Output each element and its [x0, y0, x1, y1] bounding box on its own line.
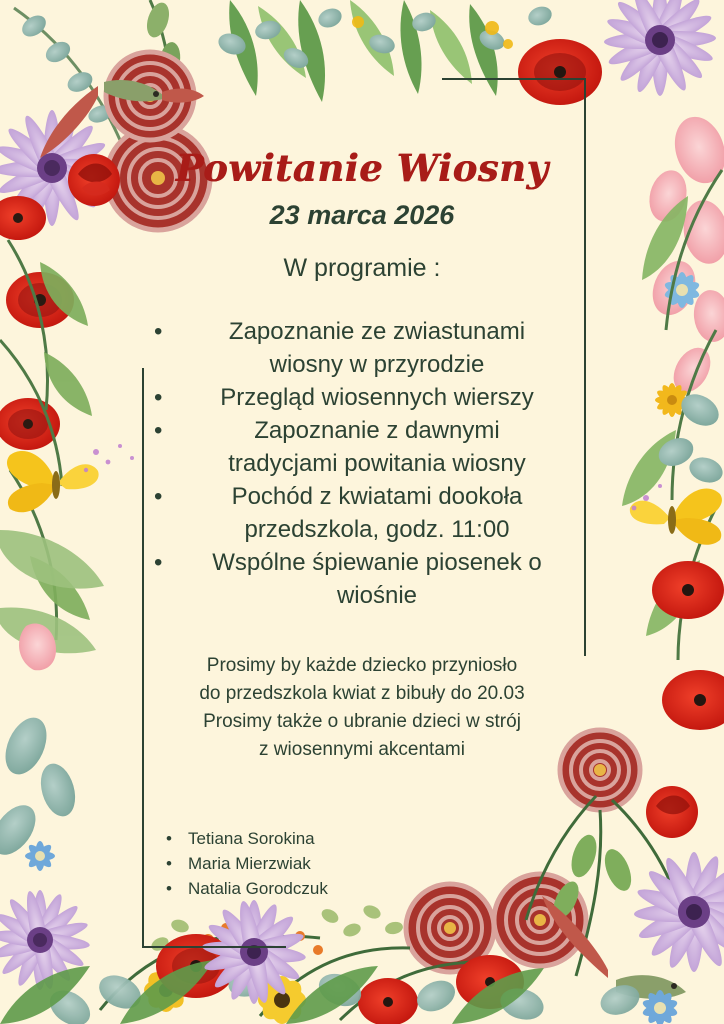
program-item-text: Przegląd wiosennych wierszy	[220, 384, 533, 411]
organizers-list: Tetiana Sorokina Maria Mierzwiak Natalia…	[160, 826, 328, 901]
spring-welcome-poster: Powitanie Wiosny 23 marca 2026 W program…	[0, 0, 724, 1024]
list-item: Pochód z kwiatami dookoła przedszkola, g…	[150, 480, 580, 546]
list-item: Zapoznanie z dawnymi tradycjami powitani…	[150, 414, 580, 480]
program-list: Zapoznanie ze zwiastunami wiosny w przyr…	[150, 315, 580, 612]
note-line: Prosimy także o ubranie dzieci w strój	[0, 708, 724, 736]
note-line: z wiosennymi akcentami	[0, 736, 724, 764]
list-item: Wspólne śpiewanie piosenek o wiośnie	[150, 546, 580, 612]
program-item-text: Pochód z kwiatami dookoła przedszkola, g…	[197, 480, 557, 546]
note-line: Prosimy by każde dziecko przyniosło	[0, 652, 724, 680]
program-item-text: Zapoznanie ze zwiastunami wiosny w przyr…	[197, 315, 557, 381]
poster-title: Powitanie Wiosny	[0, 146, 724, 190]
program-heading: W programie :	[0, 254, 724, 283]
note-line: do przedszkola kwiat z bibuły do 20.03	[0, 680, 724, 708]
list-item: Zapoznanie ze zwiastunami wiosny w przyr…	[150, 315, 580, 381]
program-item-text: Wspólne śpiewanie piosenek o wiośnie	[212, 549, 542, 609]
list-item: Tetiana Sorokina	[160, 826, 328, 851]
parents-note: Prosimy by każde dziecko przyniosło do p…	[0, 652, 724, 764]
list-item: Natalia Gorodczuk	[160, 876, 328, 901]
list-item: Przegląd wiosennych wierszy	[150, 381, 580, 414]
program-item-text: Zapoznanie z dawnymi tradycjami powitani…	[197, 414, 557, 480]
event-date: 23 marca 2026	[0, 200, 724, 231]
poster-content: Powitanie Wiosny 23 marca 2026 W program…	[0, 0, 724, 1024]
list-item: Maria Mierzwiak	[160, 851, 328, 876]
